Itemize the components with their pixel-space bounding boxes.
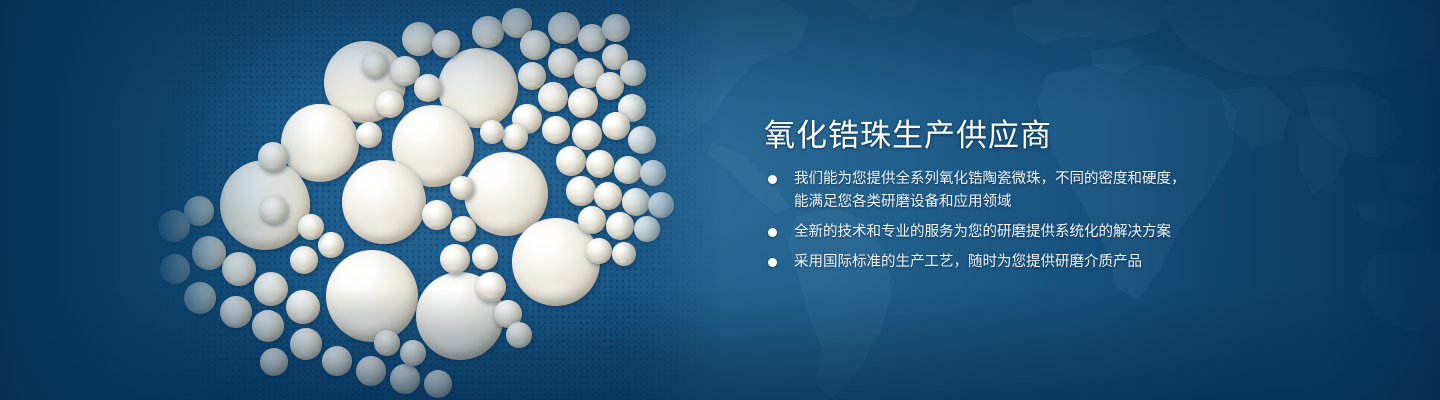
feature-text-line: 采用国际标准的生产工艺，随时为您提供研磨介质产品	[794, 251, 1236, 274]
banner-content: 氧化锆珠生产供应商 我们能为您提供全系列氧化锆陶瓷微珠，不同的密度和硬度， 能满…	[764, 0, 1384, 400]
bullet-dot-icon	[768, 258, 777, 267]
bullet-dot-icon	[768, 175, 777, 184]
list-item: 全新的技术和专业的服务为您的研磨提供系统化的解决方案	[766, 221, 1236, 244]
feature-text-line: 全新的技术和专业的服务为您的研磨提供系统化的解决方案	[794, 221, 1236, 244]
list-item: 采用国际标准的生产工艺，随时为您提供研磨介质产品	[766, 251, 1236, 274]
hero-banner: 氧化锆珠生产供应商 我们能为您提供全系列氧化锆陶瓷微珠，不同的密度和硬度， 能满…	[0, 0, 1440, 400]
list-item: 我们能为您提供全系列氧化锆陶瓷微珠，不同的密度和硬度， 能满足您各类研磨设备和应…	[766, 168, 1236, 214]
feature-text-line: 我们能为您提供全系列氧化锆陶瓷微珠，不同的密度和硬度，	[794, 168, 1236, 191]
feature-list: 我们能为您提供全系列氧化锆陶瓷微珠，不同的密度和硬度， 能满足您各类研磨设备和应…	[766, 168, 1236, 281]
page-title: 氧化锆珠生产供应商	[764, 110, 1052, 155]
bullet-dot-icon	[768, 228, 777, 237]
feature-text-line: 能满足您各类研磨设备和应用领域	[794, 191, 1236, 214]
